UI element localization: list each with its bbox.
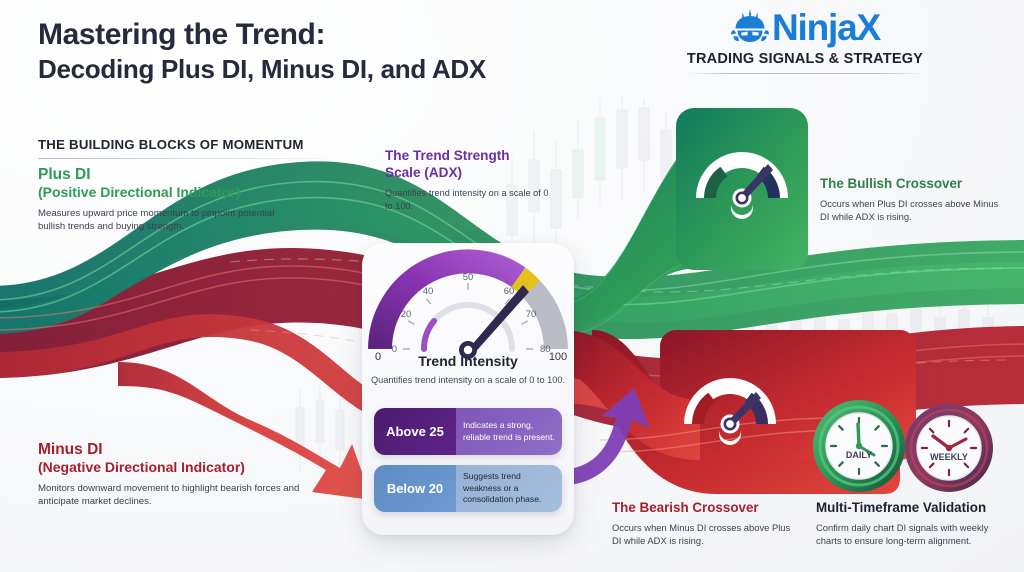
adx-description: Quantifies trend intensity on a scale of… <box>385 187 550 213</box>
threshold-key: Below 20 <box>374 465 456 512</box>
gauge-title: Trend Intensity <box>362 353 574 369</box>
threshold-value: Indicates a strong, reliable trend is pr… <box>456 408 562 455</box>
bearish-crossover-callout: The Bearish Crossover Occurs when Minus … <box>612 500 802 548</box>
svg-text:20: 20 <box>401 309 412 320</box>
multi-timeframe-callout: Multi-Timeframe Validation Confirm daily… <box>816 500 1016 548</box>
threshold-value: Suggests trend weakness or a consolidati… <box>456 465 562 512</box>
adx-heading-line-1: The Trend Strength <box>385 148 550 165</box>
svg-text:40: 40 <box>423 286 434 297</box>
plus-di-block: Plus DI (Positive Directional Indicator)… <box>38 165 303 234</box>
plus-di-description: Measures upward price momentum to pinpoi… <box>38 207 303 234</box>
minus-di-block: Minus DI (Negative Directional Indicator… <box>38 440 338 509</box>
title-line-2: Decoding Plus DI, Minus DI, and ADX <box>38 54 598 85</box>
svg-text:60: 60 <box>504 286 515 297</box>
threshold-row-above-25: Above 25 Indicates a strong, reliable tr… <box>374 408 562 455</box>
title-line-1: Mastering the Trend: <box>38 18 598 52</box>
page-title: Mastering the Trend: Decoding Plus DI, M… <box>38 18 598 85</box>
bullish-crossover-callout: The Bullish Crossover Occurs when Plus D… <box>820 176 1010 224</box>
logo-divider <box>687 73 923 74</box>
plus-di-title: Plus DI <box>38 165 303 184</box>
minus-di-title: Minus DI <box>38 440 338 459</box>
gauge-subtitle: Quantifies trend intensity on a scale of… <box>362 374 574 387</box>
ninja-helmet-icon <box>730 8 770 46</box>
multi-timeframe-heading: Multi-Timeframe Validation <box>816 500 1016 517</box>
bullish-crossover-description: Occurs when Plus DI crosses above Minus … <box>820 197 1010 224</box>
brand-logo: NinjaX TRADING SIGNALS & STRATEGY <box>676 8 934 74</box>
logo-tagline: TRADING SIGNALS & STRATEGY <box>676 51 934 67</box>
svg-text:50: 50 <box>463 272 474 283</box>
threshold-key: Above 25 <box>374 408 456 455</box>
bullish-crossover-heading: The Bullish Crossover <box>820 176 1010 193</box>
adx-gauge-chart: 0 20 40 50 60 70 80 0 100 <box>368 249 568 361</box>
building-blocks-divider <box>38 158 326 159</box>
infographic-canvas: Mastering the Trend: Decoding Plus DI, M… <box>0 0 1024 572</box>
gauge-needle <box>459 285 529 359</box>
bearish-crossover-heading: The Bearish Crossover <box>612 500 802 517</box>
svg-text:70: 70 <box>526 309 537 320</box>
threshold-row-below-20: Below 20 Suggests trend weakness or a co… <box>374 465 562 512</box>
plus-di-subtitle: (Positive Directional Indicator) <box>38 184 303 202</box>
minus-di-description: Monitors downward movement to highlight … <box>38 482 338 509</box>
building-blocks-heading: THE BUILDING BLOCKS OF MOMENTUM <box>38 137 338 159</box>
multi-timeframe-description: Confirm daily chart DI signals with week… <box>816 521 1016 548</box>
bearish-crossover-description: Occurs when Minus DI crosses above Plus … <box>612 521 802 548</box>
adx-heading-line-2: Scale (ADX) <box>385 165 550 182</box>
trend-intensity-card: 0 20 40 50 60 70 80 0 100 Trend Intensit… <box>362 243 574 535</box>
adx-heading-block: The Trend Strength Scale (ADX) Quantifie… <box>385 148 550 213</box>
logo-wordmark: NinjaX <box>772 9 880 46</box>
minus-di-subtitle: (Negative Directional Indicator) <box>38 459 338 477</box>
building-blocks-label: THE BUILDING BLOCKS OF MOMENTUM <box>38 137 338 152</box>
